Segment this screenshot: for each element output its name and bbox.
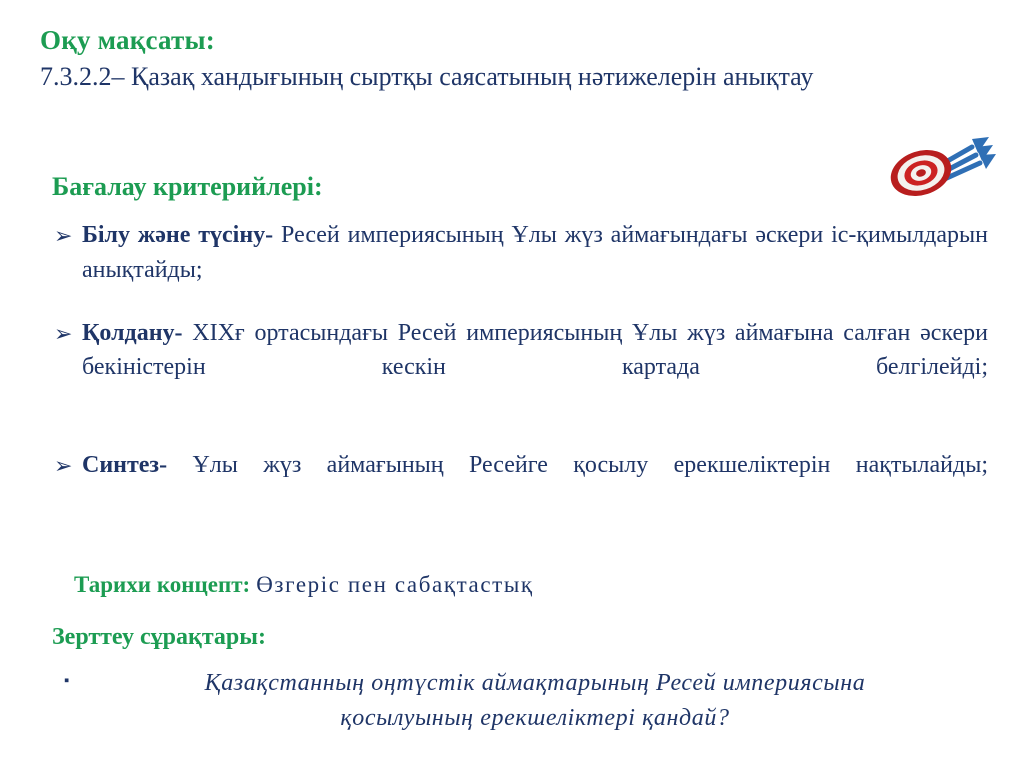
historical-concept-line: Тарихи концепт:Өзгеріс пен сабақтастық bbox=[74, 572, 534, 598]
research-question-line-1: Қазақстанның оңтүстік аймақтарының Ресей… bbox=[84, 666, 986, 701]
arrow-bullet-icon: ➢ bbox=[46, 218, 82, 254]
assessment-criteria-list: ➢ Білу және түсіну- Ресей империясының Ұ… bbox=[46, 218, 1006, 518]
learning-objective-title: Оқу мақсаты: bbox=[40, 24, 990, 58]
criteria-lead-label: Білу және түсіну- bbox=[82, 222, 273, 248]
research-questions-heading: Зерттеу сұрақтары: bbox=[52, 624, 266, 651]
assessment-criteria-heading: Бағалау критерийлері: bbox=[52, 172, 323, 202]
research-question-item: ▪ Қазақстанның оңтүстік аймақтарының Рес… bbox=[56, 666, 1006, 736]
arrow-bullet-icon: ➢ bbox=[46, 448, 82, 484]
research-questions-list: ▪ Қазақстанның оңтүстік аймақтарының Рес… bbox=[56, 666, 1006, 736]
criteria-text: Білу және түсіну- Ресей империясының Ұлы… bbox=[82, 218, 1006, 288]
criteria-item-know-understand: ➢ Білу және түсіну- Ресей империясының Ұ… bbox=[46, 218, 1006, 288]
learning-objective-block: Оқу мақсаты: 7.3.2.2– Қазақ хандығының с… bbox=[40, 24, 990, 94]
dartboard-with-darts-icon bbox=[888, 133, 996, 201]
criteria-text: Қолдану- XIXғ ортасындағы Ресей империяс… bbox=[82, 316, 1006, 420]
criteria-description: XIXғ ортасындағы Ресей империясының Ұлы … bbox=[82, 320, 988, 381]
criteria-description: Ұлы жүз аймағының Ресейге қосылу ерекшел… bbox=[192, 452, 988, 478]
arrow-bullet-icon: ➢ bbox=[46, 316, 82, 352]
research-question-text: Қазақстанның оңтүстік аймақтарының Ресей… bbox=[84, 666, 1006, 736]
research-question-line-2: қосылуының ерекшеліктері қандай? bbox=[84, 701, 986, 736]
criteria-lead-label: Синтез- bbox=[82, 452, 167, 478]
criteria-text: Синтез- Ұлы жүз аймағының Ресейге қосылу… bbox=[82, 448, 1006, 518]
square-bullet-icon: ▪ bbox=[56, 666, 84, 696]
learning-objective-text: 7.3.2.2– Қазақ хандығының сыртқы саясаты… bbox=[40, 60, 990, 94]
criteria-item-synthesis: ➢ Синтез- Ұлы жүз аймағының Ресейге қосы… bbox=[46, 448, 1006, 518]
criteria-item-apply: ➢ Қолдану- XIXғ ортасындағы Ресей импери… bbox=[46, 316, 1006, 420]
slide-canvas: Оқу мақсаты: 7.3.2.2– Қазақ хандығының с… bbox=[0, 0, 1024, 767]
historical-concept-label: Тарихи концепт: bbox=[74, 572, 250, 597]
historical-concept-value: Өзгеріс пен сабақтастық bbox=[256, 572, 533, 597]
criteria-lead-label: Қолдану- bbox=[82, 320, 183, 346]
